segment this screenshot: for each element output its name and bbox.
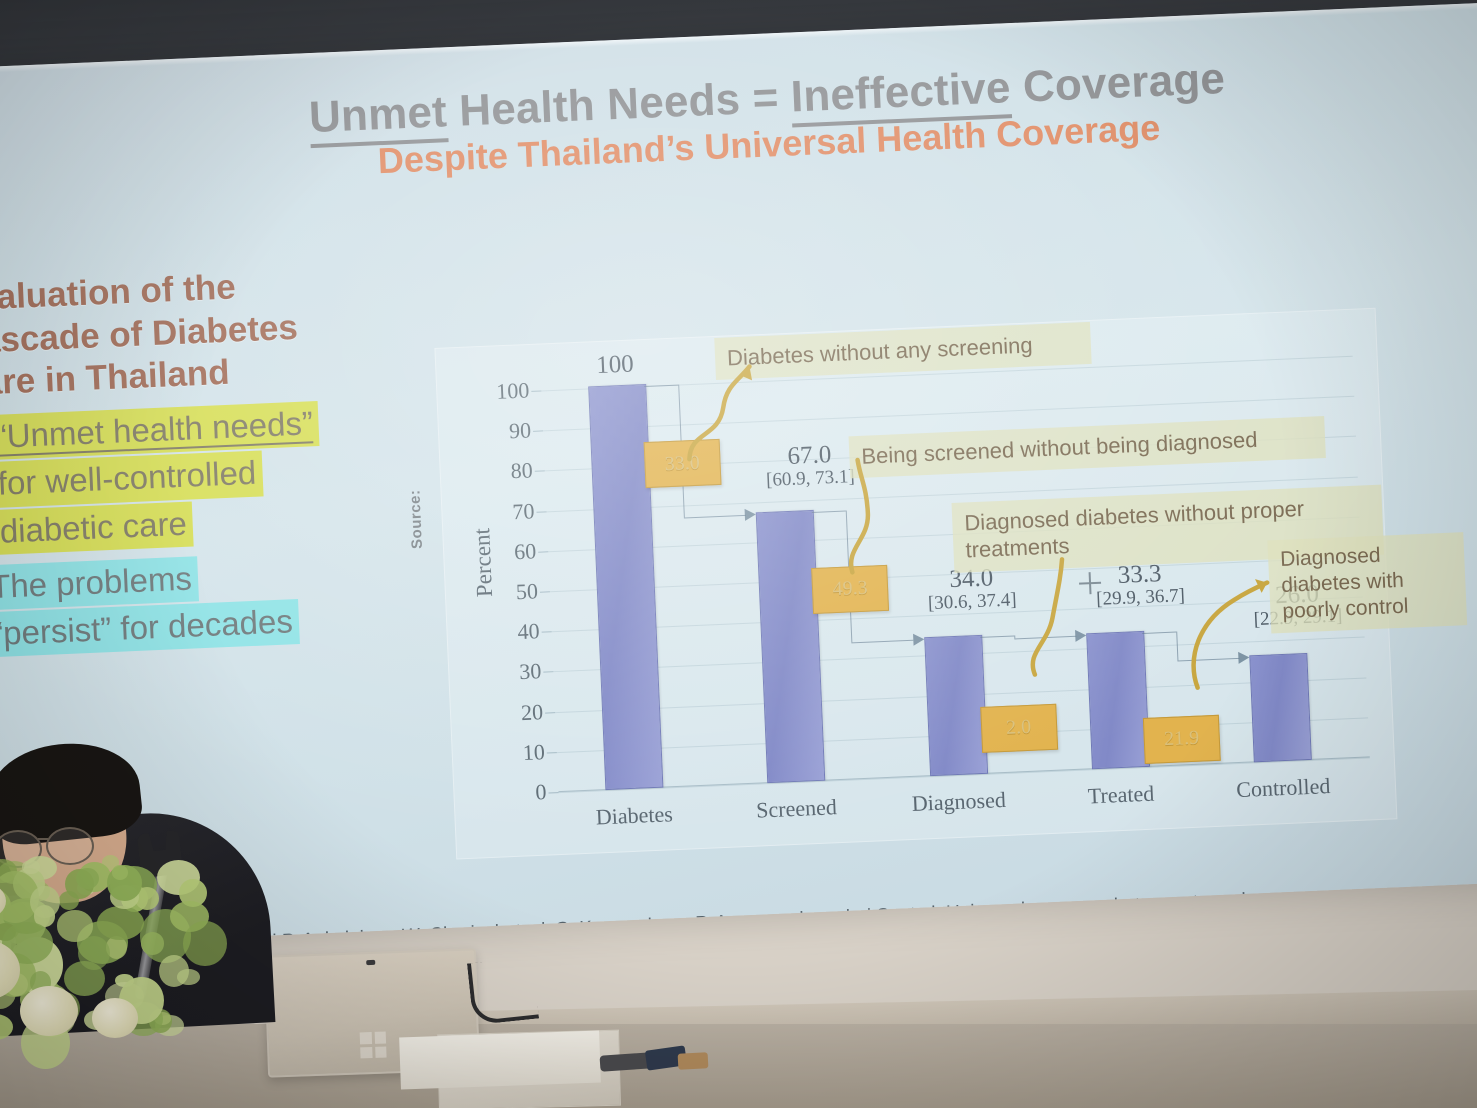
y-axis-tick: 20 [521,699,544,726]
y-axis-tick-mark [543,672,553,673]
flower-rose [0,940,20,1000]
y-axis-tick: 30 [519,659,542,686]
flower-leaf [29,1001,75,1037]
flower-leaf [21,1017,70,1069]
windows-logo-icon [360,1032,387,1059]
flower-leaf [30,971,52,994]
y-axis-label: Percent [469,528,498,598]
y-axis-tick-mark [540,591,550,592]
left-text-column: Evaluation of the Cascade of Diabetes Ca… [0,258,439,658]
y-axis-tick: 40 [517,618,540,645]
step-connector-top [812,510,846,512]
y-axis-tick-mark [531,390,541,391]
flower-leaf [159,955,189,987]
flower-rose [92,998,138,1038]
flower-leaf [36,980,59,996]
flower-leaf [84,1010,112,1031]
x-axis-label-controlled: Controlled [1236,773,1331,803]
y-axis-tick: 60 [514,538,537,565]
y-axis-tick: 50 [515,578,538,605]
y-axis-tick-mark [549,792,559,793]
y-axis-tick-mark [535,471,545,472]
papers-on-desk [399,1031,601,1090]
flower-leaf [6,962,22,978]
attrition-box-21.9: 21.9 [1143,715,1221,764]
flower-leaf [119,977,164,1024]
source-label: Source: [406,489,426,549]
step-arrow-icon [1238,652,1250,664]
x-axis-label-diabetes: Diabetes [595,801,673,830]
flower-leaf [0,953,36,997]
step-connector-bottom [684,514,746,518]
flower-leaf [113,1008,132,1026]
y-axis-tick: 10 [522,739,545,766]
bar-ci-label: [60.9, 73.1] [766,467,855,491]
step-connector-vertical [1176,632,1178,661]
y-axis-tick-mark [547,752,557,753]
data-label-screened: 67.0[60.9, 73.1] [765,440,856,491]
x-axis-label-treated: Treated [1087,781,1154,810]
step-connector-top [980,636,1014,638]
bar-diagnosed [924,635,988,776]
flower-leaf [49,992,80,1025]
flower-leaf [64,961,105,996]
photo-of-conference-room: Unmet Health Needs = Ineffective Coverag… [0,0,1477,1108]
left-highlight-yellow-3: diabetic care [0,501,194,555]
data-label-treated: 33.3[29.9, 36.7] [1095,559,1186,610]
second-device [437,1030,621,1108]
step-connector-top [1142,632,1176,634]
step-connector-bottom [1177,658,1239,662]
flower-leaf [124,1002,163,1037]
y-axis-tick-mark [536,511,546,512]
flower-rose [20,986,78,1036]
attrition-box-33.0: 33.0 [643,439,721,488]
x-axis-label-diagnosed: Diagnosed [911,787,1006,817]
slide-title-coverage: Coverage [1010,54,1226,112]
flower-leaf [149,1009,172,1033]
power-cable [467,957,539,1026]
desk-clutter [600,1048,720,1074]
step-connector-top [644,385,678,387]
bar-ci-label: [30.6, 37.4] [928,591,1017,615]
step-arrow-icon [745,508,757,520]
attrition-box-49.3: 49.3 [811,564,889,613]
step-connector-bottom [851,640,913,644]
flower-leaf [5,973,28,997]
step-arrow-icon [913,634,925,646]
y-axis-tick: 70 [512,498,535,525]
left-highlight-cyan-2: “persist” for decades [0,599,300,658]
y-axis-tick: 0 [535,779,547,805]
bar-value-label: 100 [596,350,635,379]
bar-value-label: 67.0 [787,441,832,470]
y-axis-tick-mark [542,631,552,632]
flower-leaf [35,983,56,1002]
bar-controlled [1250,653,1313,762]
bar-ci-label: [29.9, 36.7] [1096,586,1185,610]
flower-leaf [155,1015,183,1036]
pointer-crosshair-icon [1079,572,1102,595]
citation-line-1: n LD, …nvoravongchai P, Aekplakorn W, Ch… [83,878,1423,947]
step-arrow-icon [1075,630,1087,642]
attrition-box-2.0: 2.0 [980,703,1058,752]
bar-treated [1086,631,1150,769]
desk-dark-panel [299,1027,700,1083]
diabetes-cascade-chart: Percent 0102030405060708090100Diabetes10… [434,308,1397,860]
projection-screen: Unmet Health Needs = Ineffective Coverag… [0,0,1477,947]
flower-leaf [20,982,70,1017]
y-axis-tick-mark [538,551,548,552]
step-connector-bottom [1014,636,1076,640]
y-axis-tick-mark [545,712,555,713]
desk-front-panel [0,1024,1477,1108]
data-label-diabetes: 100 [596,350,635,379]
desk-surface [330,990,1477,1060]
callout-poorly-controlled: Diagnosed diabetes with poorly control [1267,532,1467,633]
y-axis-tick: 90 [508,418,531,445]
y-axis-tick: 100 [496,377,530,404]
citation-block: n LD, …nvoravongchai P, Aekplakorn W, Ch… [83,878,1424,947]
tablet-camera-icon [366,960,375,965]
x-axis-label-screened: Screened [756,794,838,823]
y-axis-tick: 80 [510,458,533,485]
slide-title-block: Unmet Health Needs = Ineffective Coverag… [177,50,1360,190]
flower-leaf [0,1014,13,1040]
y-axis-tick-mark [533,431,543,432]
flower-leaf [154,1012,172,1025]
bar-screened [756,510,826,784]
surface-tablet [264,948,480,1077]
flower-leaf [115,974,133,987]
flower-leaf [105,982,144,1011]
flower-leaf [0,976,16,1009]
flower-leaf [114,1015,132,1033]
flower-leaf [177,969,199,985]
